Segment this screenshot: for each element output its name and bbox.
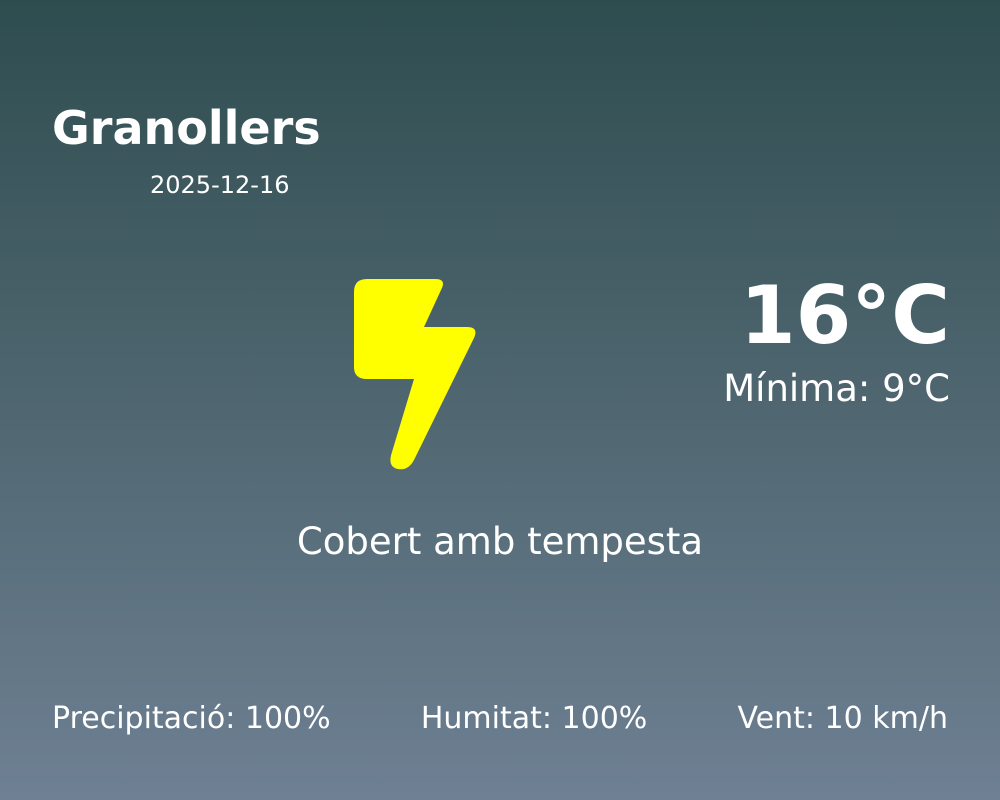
minimum-temperature: Mínima: 9°C [430,366,950,412]
stat-wind: Vent: 10 km/h [737,700,948,738]
current-temperature: 16°C [430,270,950,362]
weather-card: Granollers 2025-12-16 16°C Mínima: 9°C C… [0,0,1000,800]
temperature-block: 16°C Mínima: 9°C [430,270,950,412]
date-label: 2025-12-16 [150,170,289,200]
condition-text: Cobert amb tempesta [0,518,1000,566]
stat-precipitation: Precipitació: 100% [52,700,331,738]
stats-row: Precipitació: 100% Humitat: 100% Vent: 1… [52,700,948,738]
page-title: Granollers [52,100,321,156]
stat-humidity: Humitat: 100% [421,700,647,738]
